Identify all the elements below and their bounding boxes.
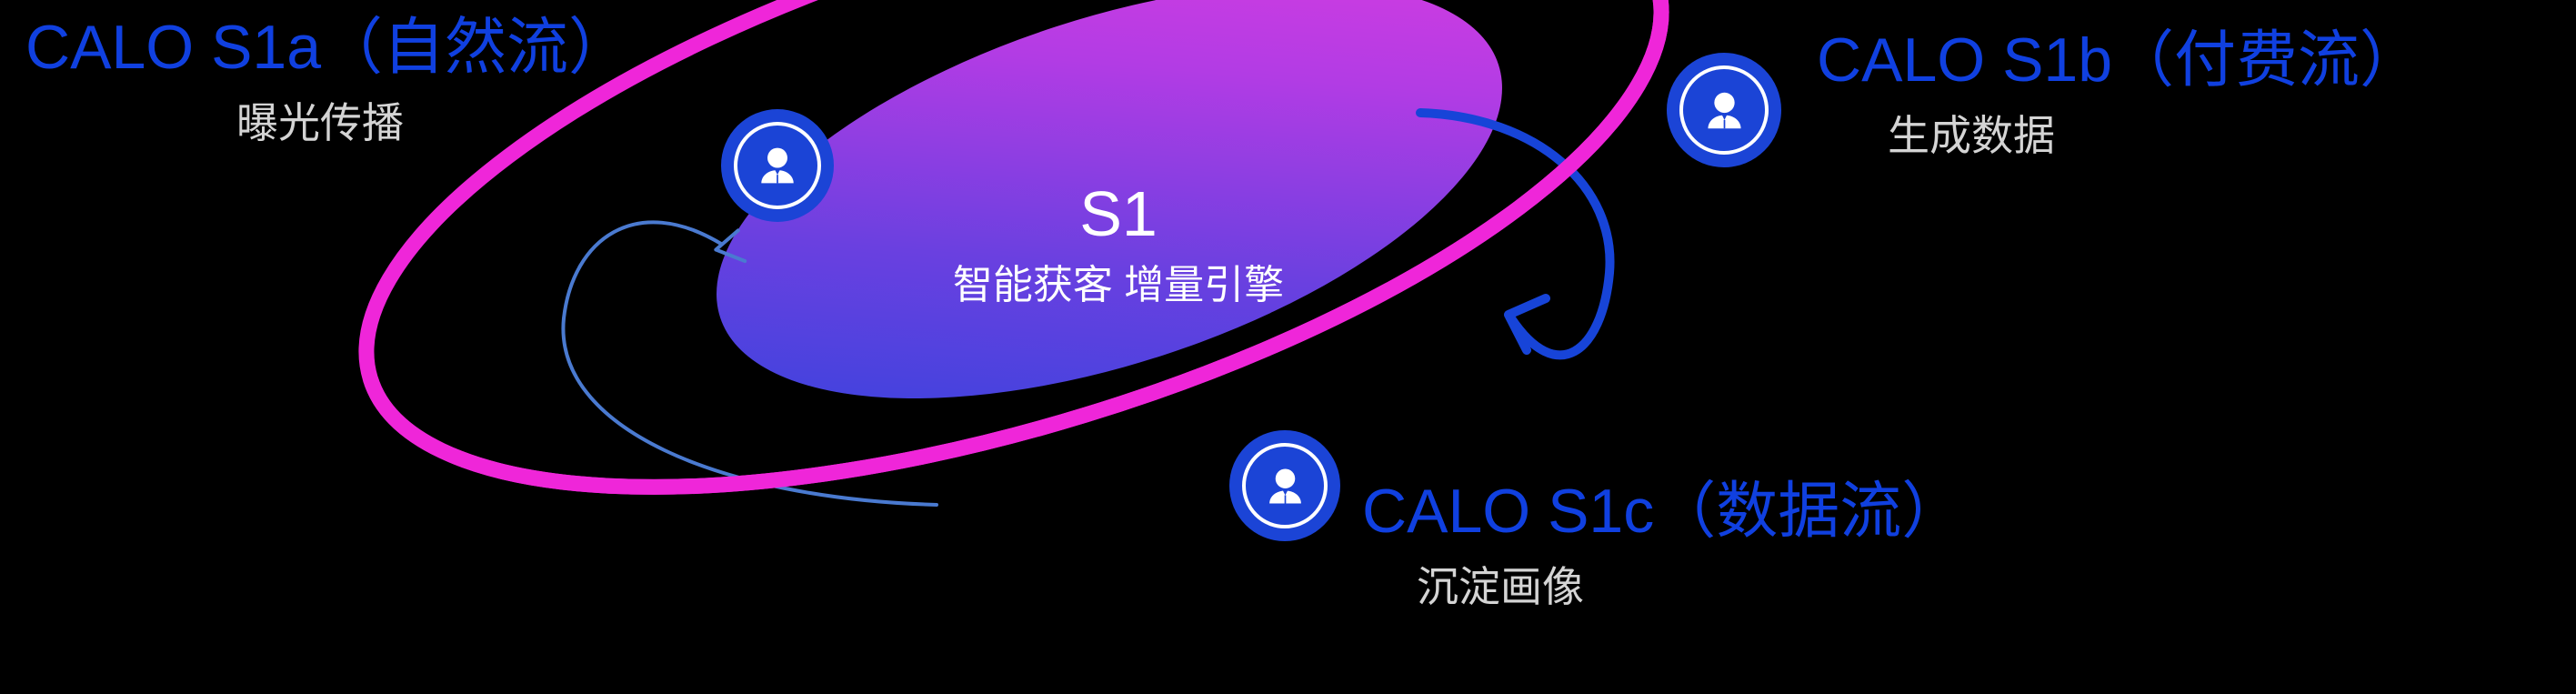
- diagram-canvas: S1 智能获客 增量引擎 CALO S1a（自然流） 曝光传播 CALO S1b…: [0, 0, 2576, 694]
- label-title-s1c: CALO S1c（数据流）: [1362, 480, 1963, 542]
- label-subtitle-s1a: 曝光传播: [236, 102, 630, 144]
- node-badge-s1b[interactable]: [1667, 53, 1781, 167]
- label-group-s1c: CALO S1c（数据流） 沉淀画像: [1362, 480, 1963, 608]
- label-title-s1b: CALO S1b（付费流）: [1817, 29, 2421, 91]
- label-title-s1a: CALO S1a（自然流）: [25, 16, 630, 78]
- core-subtitle: 智能获客 增量引擎: [891, 266, 1346, 306]
- person-badge-icon: [1699, 85, 1749, 136]
- label-group-s1a: CALO S1a（自然流） 曝光传播: [25, 16, 630, 144]
- label-group-s1b: CALO S1b（付费流） 生成数据: [1817, 29, 2421, 156]
- label-subtitle-s1c: 沉淀画像: [1417, 566, 1963, 608]
- label-subtitle-s1b: 生成数据: [1888, 115, 2421, 156]
- node-badge-s1c[interactable]: [1229, 430, 1340, 541]
- core-label-group: S1 智能获客 增量引擎: [891, 182, 1346, 306]
- node-badge-s1a[interactable]: [721, 109, 834, 222]
- person-badge-icon: [1261, 462, 1309, 510]
- person-badge-icon: [753, 141, 802, 190]
- core-title: S1: [891, 182, 1346, 246]
